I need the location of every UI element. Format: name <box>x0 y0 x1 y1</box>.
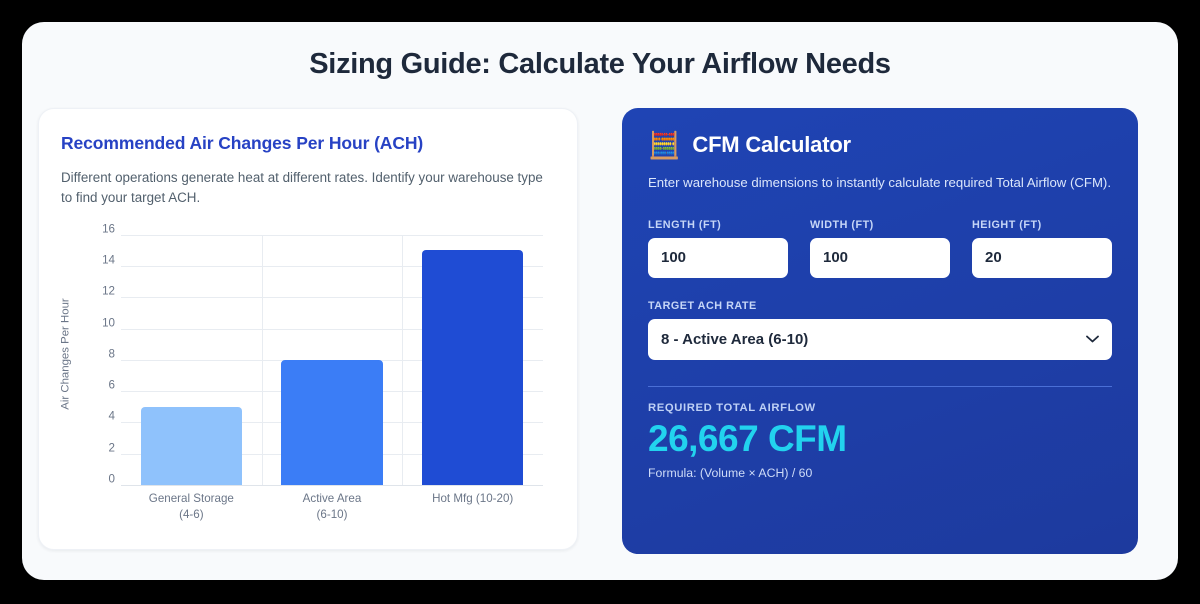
chart-card-title: Recommended Air Changes Per Hour (ACH) <box>61 133 555 154</box>
length-field-label: LENGTH (FT) <box>648 219 788 231</box>
bar[interactable] <box>281 360 382 485</box>
ach-select-wrapper[interactable]: 8 - Active Area (6-10) <box>648 319 1112 360</box>
length-input[interactable] <box>648 238 788 278</box>
width-input[interactable] <box>810 238 950 278</box>
y-tick-label: 14 <box>81 254 115 267</box>
bar[interactable] <box>141 407 242 485</box>
height-field-label: HEIGHT (FT) <box>972 219 1112 231</box>
y-tick-label: 0 <box>81 472 115 485</box>
y-axis-ticks: 0246810121416 <box>81 229 115 479</box>
y-tick-label: 8 <box>81 347 115 360</box>
cfm-calculator-panel: 🧮 CFM Calculator Enter warehouse dimensi… <box>622 108 1138 554</box>
y-tick-label: 6 <box>81 379 115 392</box>
calculator-header: 🧮 CFM Calculator <box>648 132 1112 158</box>
plot-area <box>121 235 543 485</box>
y-tick-label: 10 <box>81 316 115 329</box>
ach-select[interactable]: 8 - Active Area (6-10) <box>648 319 1112 360</box>
ach-select-group: TARGET ACH RATE 8 - Active Area (6-10) <box>648 300 1112 360</box>
ach-select-label: TARGET ACH RATE <box>648 300 1112 312</box>
result-divider <box>648 386 1112 387</box>
y-tick-label: 2 <box>81 441 115 454</box>
width-field-group: WIDTH (FT) <box>810 219 950 278</box>
y-tick-label: 12 <box>81 285 115 298</box>
calculator-title: CFM Calculator <box>692 132 851 158</box>
width-field-label: WIDTH (FT) <box>810 219 950 231</box>
height-input[interactable] <box>972 238 1112 278</box>
x-axis-label: General Storage(4-6) <box>121 491 262 524</box>
bar[interactable] <box>422 250 523 484</box>
chart-card-description: Different operations generate heat at di… <box>61 168 551 209</box>
x-axis-label: Active Area(6-10) <box>262 491 403 524</box>
bar-slot <box>402 235 543 485</box>
y-axis-title-label: Air Changes Per Hour <box>60 298 72 409</box>
page-container: Sizing Guide: Calculate Your Airflow Nee… <box>22 22 1178 580</box>
result-label: REQUIRED TOTAL AIRFLOW <box>648 402 1112 414</box>
bar-series <box>121 235 543 485</box>
calculator-subtitle: Enter warehouse dimensions to instantly … <box>648 173 1112 193</box>
bar-slot <box>121 235 262 485</box>
y-tick-label: 16 <box>81 222 115 235</box>
abacus-icon: 🧮 <box>648 132 680 158</box>
result-formula: Formula: (Volume × ACH) / 60 <box>648 466 1112 480</box>
height-field-group: HEIGHT (FT) <box>972 219 1112 278</box>
y-tick-label: 4 <box>81 410 115 423</box>
result-value: 26,667 CFM <box>648 418 1112 459</box>
page-title: Sizing Guide: Calculate Your Airflow Nee… <box>22 48 1178 81</box>
ach-chart-card: Recommended Air Changes Per Hour (ACH) D… <box>38 108 578 550</box>
x-axis-label: Hot Mfg (10-20) <box>402 491 543 524</box>
bar-slot <box>262 235 403 485</box>
dimension-fields: LENGTH (FT) WIDTH (FT) HEIGHT (FT) <box>648 219 1112 278</box>
length-field-group: LENGTH (FT) <box>648 219 788 278</box>
x-axis-labels: General Storage(4-6)Active Area(6-10)Hot… <box>121 491 543 524</box>
result-block: REQUIRED TOTAL AIRFLOW 26,667 CFM Formul… <box>648 402 1112 480</box>
main-columns: Recommended Air Changes Per Hour (ACH) D… <box>22 108 1178 554</box>
y-axis-title: Air Changes Per Hour <box>57 229 75 479</box>
gridline <box>121 485 543 486</box>
ach-bar-chart: Air Changes Per Hour 0246810121416 Gener… <box>61 229 555 529</box>
